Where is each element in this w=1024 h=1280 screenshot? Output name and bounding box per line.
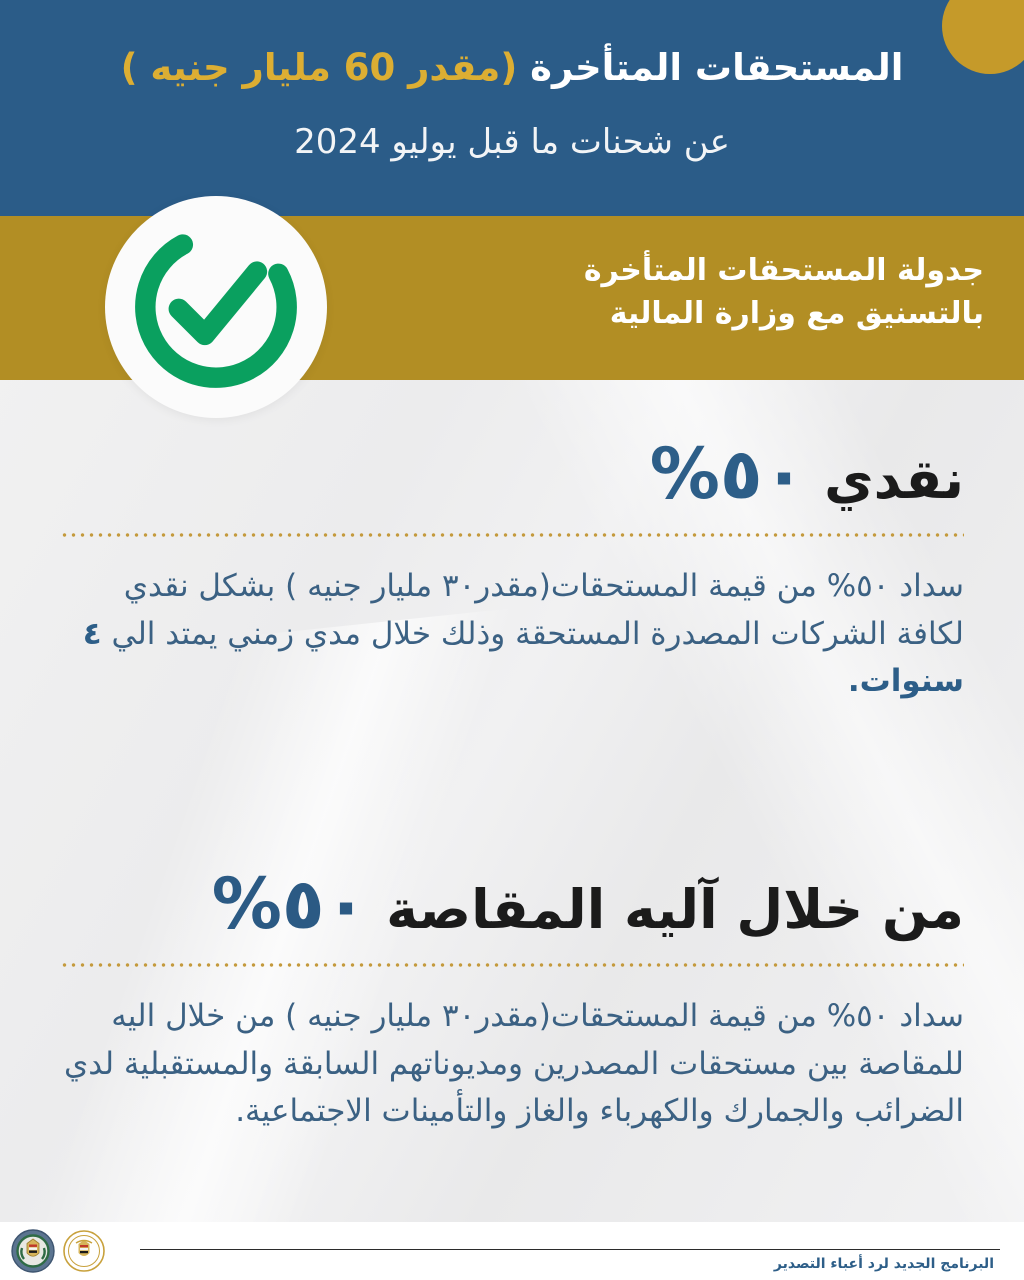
page-title: المستحقات المتأخرة (مقدر 60 مليار جنيه ): [0, 46, 1024, 89]
section-clearing-body: سداد ٥٠% من قيمة المستحقات(مقدر٣٠ مليار …: [60, 993, 964, 1134]
section-clearing-heading-label: من خلال آليه المقاصة: [386, 878, 964, 941]
egypt-state-emblem: [62, 1229, 106, 1277]
page-subtitle: عن شحنات ما قبل يوليو 2024: [0, 122, 1024, 162]
gold-band-line-1: جدولة المستحقات المتأخرة: [364, 250, 984, 293]
section-cash-body: سداد ٥٠% من قيمة المستحقات(مقدر٣٠ مليار …: [60, 563, 964, 704]
header-banner: المستحقات المتأخرة (مقدر 60 مليار جنيه )…: [0, 0, 1024, 216]
footer-emblems: [10, 1228, 106, 1278]
section-clearing-heading-number: ٥٠%: [212, 863, 368, 945]
section-cash-body-text: سداد ٥٠% من قيمة المستحقات(مقدر٣٠ مليار …: [102, 568, 964, 651]
section-clearing-body-text: سداد ٥٠% من قيمة المستحقات(مقدر٣٠ مليار …: [64, 998, 964, 1128]
section-clearing-divider: [60, 963, 964, 967]
footer: البرنامج الجديد لرد أعباء التصدير: [0, 1222, 1024, 1280]
section-cash-heading-number: ٥٠%: [650, 433, 806, 515]
section-cash-heading-label: نقدي: [824, 448, 964, 511]
gold-band-line-2: بالتسنيق مع وزارة المالية: [364, 293, 984, 336]
section-cash-heading: نقدي ٥٠%: [60, 432, 964, 517]
footer-caption: البرنامج الجديد لرد أعباء التصدير: [774, 1256, 994, 1272]
gold-band-text: جدولة المستحقات المتأخرة بالتسنيق مع وزا…: [364, 250, 984, 335]
infographic-poster: المستحقات المتأخرة (مقدر 60 مليار جنيه )…: [0, 0, 1024, 1280]
ministry-emblem: [10, 1228, 56, 1278]
check-circle-icon: [123, 214, 309, 400]
page-title-prefix: المستحقات المتأخرة: [517, 46, 903, 89]
check-circle-badge: [105, 196, 327, 418]
section-cash: نقدي ٥٠% سداد ٥٠% من قيمة المستحقات(مقدر…: [60, 432, 964, 705]
section-clearing-heading: من خلال آليه المقاصة ٥٠%: [60, 862, 964, 947]
section-clearing: من خلال آليه المقاصة ٥٠% سداد ٥٠% من قيم…: [60, 862, 964, 1135]
page-title-amount: (مقدر 60 مليار جنيه ): [121, 46, 518, 89]
footer-divider-rule: [140, 1249, 1000, 1250]
section-cash-divider: [60, 533, 964, 537]
